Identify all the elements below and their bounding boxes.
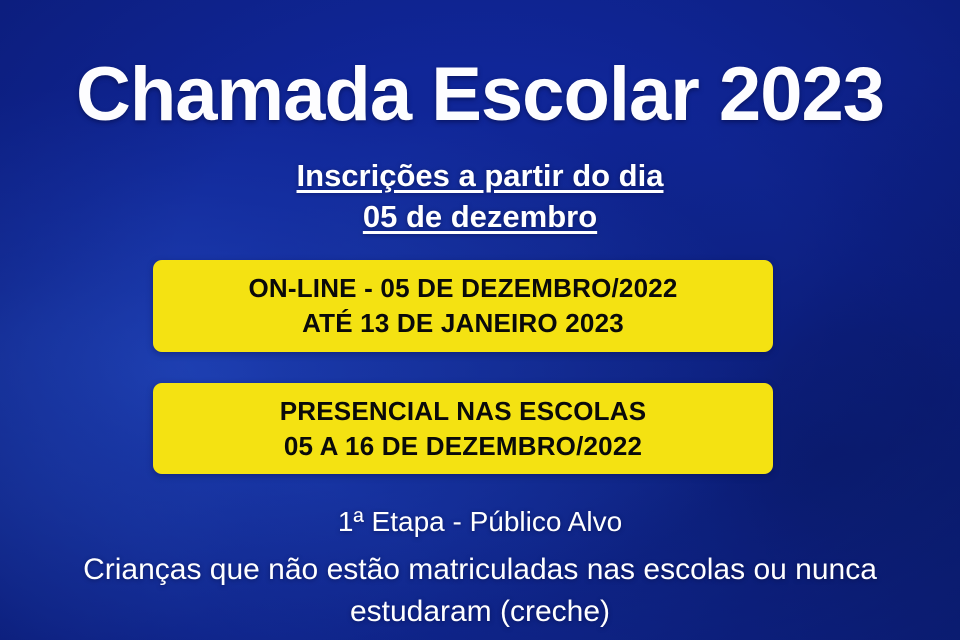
badge-presencial-line-1: PRESENCIAL NAS ESCOLAS: [280, 394, 647, 429]
poster: Chamada Escolar 2023 Inscrições a partir…: [0, 0, 960, 640]
footer-text: 1ª Etapa - Público Alvo Crianças que não…: [0, 503, 960, 633]
footer-body: Crianças que não estão matriculadas nas …: [0, 549, 960, 633]
badge-online-line-2: ATÉ 13 DE JANEIRO 2023: [302, 306, 624, 341]
poster-content: Chamada Escolar 2023 Inscrições a partir…: [0, 0, 960, 640]
badge-presencial-line-2: 05 A 16 DE DEZEMBRO/2022: [284, 429, 642, 464]
badge-presencial: PRESENCIAL NAS ESCOLAS 05 A 16 DE DEZEMB…: [153, 383, 773, 474]
subtitle: Inscrições a partir do dia 05 de dezembr…: [0, 155, 960, 237]
subtitle-line-2: 05 de dezembro: [0, 196, 960, 237]
footer-lead: 1ª Etapa - Público Alvo: [0, 503, 960, 541]
badge-online: ON-LINE - 05 DE DEZEMBRO/2022 ATÉ 13 DE …: [153, 260, 773, 352]
footer-body-line-2: estudaram (creche): [20, 591, 940, 633]
subtitle-line-1: Inscrições a partir do dia: [0, 155, 960, 196]
badge-online-line-1: ON-LINE - 05 DE DEZEMBRO/2022: [248, 271, 677, 306]
page-title: Chamada Escolar 2023: [0, 57, 960, 133]
footer-body-line-1: Crianças que não estão matriculadas nas …: [20, 549, 940, 591]
